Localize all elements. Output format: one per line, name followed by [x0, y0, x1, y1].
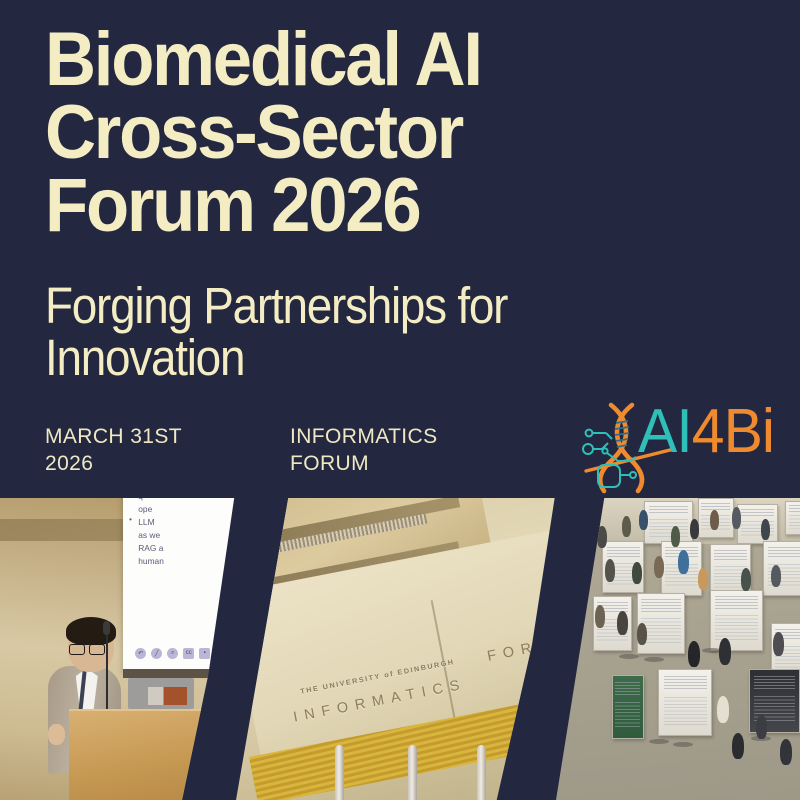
event-date: MARCH 31ST 2026: [45, 424, 182, 478]
poster-session-photo: [556, 495, 800, 800]
slide-text: q ope LLM as we RAG a human: [138, 495, 164, 568]
strip-top-border: [0, 495, 800, 498]
video-icon: ▪: [199, 648, 210, 659]
page-title: Biomedical AI Cross-Sector Forum 2026: [45, 24, 566, 243]
photo-strip: • q ope LLM as we RAG a human ↶ ╱ ⌕ cc ▪…: [0, 495, 800, 800]
poster-subtitle: Forging Partnerships for Innovation: [45, 280, 603, 384]
logo-text-ai: AI: [638, 397, 692, 466]
slide-bullet: •: [129, 515, 132, 524]
microphone-icon: [103, 621, 110, 635]
logo-text-4: 4: [692, 397, 724, 466]
search-icon: ⌕: [167, 648, 178, 659]
ai4bi-wordmark: AI4Bi: [638, 401, 774, 463]
back-icon: ↶: [135, 648, 146, 659]
event-poster: Biomedical AI Cross-Sector Forum 2026 Fo…: [0, 0, 800, 800]
ai4bi-logo: AI4Bi: [578, 399, 768, 495]
cc-icon: cc: [183, 648, 194, 659]
logo-text-bi: Bi: [724, 397, 774, 466]
pen-icon: ╱: [151, 648, 162, 659]
event-venue: INFORMATICS FORUM: [290, 424, 438, 478]
poster-header: Biomedical AI Cross-Sector Forum 2026 Fo…: [0, 0, 800, 495]
